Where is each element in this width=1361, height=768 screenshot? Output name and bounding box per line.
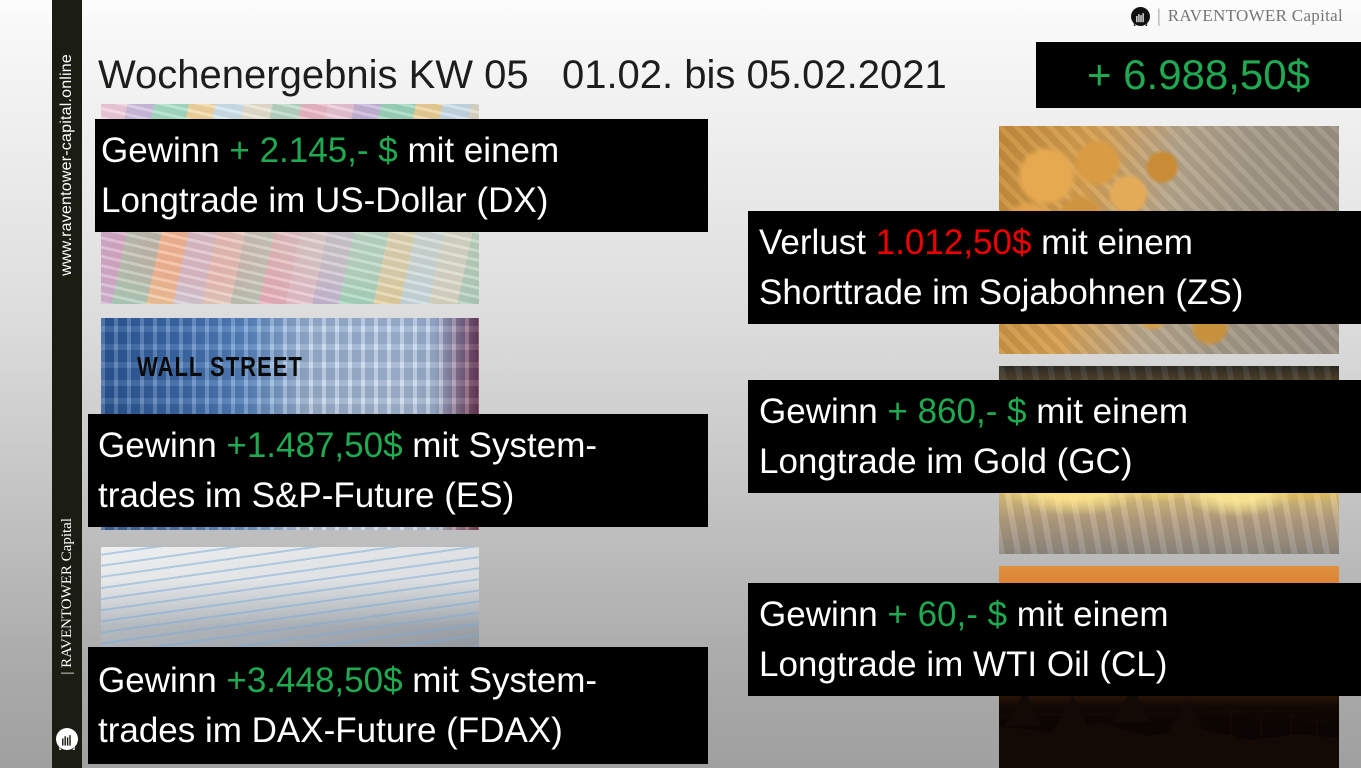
sidebar-website-url: www.raventower-capital.online <box>52 0 82 330</box>
page-title-text: Wochenergebnis KW 05 01.02. bis 05.02.20… <box>98 44 947 106</box>
caption-line-1: Gewinn + 860,- $ mit einem <box>759 387 1361 437</box>
trade-caption-gc: Gewinn + 860,- $ mit einem Longtrade im … <box>748 380 1361 493</box>
caption-line-1: Gewinn + 2.145,- $ mit einem <box>101 126 708 176</box>
page-title: Wochenergebnis KW 05 01.02. bis 05.02.20… <box>98 44 947 106</box>
caption-line-1: Verlust 1.012,50$ mit einem <box>759 218 1361 268</box>
trade-caption-dx: Gewinn + 2.145,- $ mit einem Longtrade i… <box>95 119 708 232</box>
trade-amount: + 60,- $ <box>887 595 1007 634</box>
caption-suffix: mit System- <box>403 661 597 700</box>
caption-line-2: trades im DAX-Future (FDAX) <box>98 706 708 756</box>
caption-suffix: mit einem <box>1007 595 1168 634</box>
trade-caption-es: Gewinn +1.487,50$ mit System- trades im … <box>88 414 708 527</box>
caption-line-2: Longtrade im Gold (GC) <box>759 437 1361 487</box>
brand-logo-header: | RAVENTOWER Capital <box>1131 6 1343 26</box>
trade-caption-fdax: Gewinn +3.448,50$ mit System- trades im … <box>88 647 708 764</box>
raventower-logo-icon <box>1131 7 1150 26</box>
trade-amount: + 2.145,- $ <box>229 131 397 170</box>
sidebar-url-text: www.raventower-capital.online <box>58 54 76 276</box>
raventower-logo-sidebar-icon <box>56 728 78 750</box>
caption-line-2: Shorttrade im Sojabohnen (ZS) <box>759 268 1361 318</box>
caption-prefix: Gewinn <box>759 392 887 431</box>
trade-caption-cl: Gewinn + 60,- $ mit einem Longtrade im W… <box>748 583 1361 696</box>
sidebar-brand-text: | RAVENTOWER Capital <box>59 518 76 675</box>
trade-amount: +1.487,50$ <box>226 426 402 465</box>
sidebar-brand-name: | RAVENTOWER Capital <box>52 486 82 706</box>
caption-line-1: Gewinn +3.448,50$ mit System- <box>98 656 708 706</box>
trade-amount: + 860,- $ <box>887 392 1026 431</box>
brand-separator: | <box>1157 7 1161 26</box>
caption-prefix: Gewinn <box>98 661 226 700</box>
caption-prefix: Gewinn <box>101 131 229 170</box>
brand-sidebar: www.raventower-capital.online | RAVENTOW… <box>52 0 82 768</box>
trade-caption-zs: Verlust 1.012,50$ mit einem Shorttrade i… <box>748 211 1361 324</box>
caption-line-2: Longtrade im US-Dollar (DX) <box>101 176 708 226</box>
caption-suffix: mit einem <box>398 131 559 170</box>
caption-prefix: Gewinn <box>759 595 887 634</box>
caption-line-2: trades im S&P-Future (ES) <box>98 471 708 521</box>
caption-prefix: Gewinn <box>98 426 226 465</box>
caption-suffix: mit einem <box>1031 223 1192 262</box>
trade-amount: +3.448,50$ <box>226 661 402 700</box>
caption-suffix: mit System- <box>403 426 597 465</box>
trade-amount: 1.012,50$ <box>876 223 1032 262</box>
wall-street-label: WALL STREET <box>137 351 303 384</box>
caption-prefix: Verlust <box>759 223 876 262</box>
slide-canvas: | RAVENTOWER Capital www.raventower-capi… <box>0 0 1361 768</box>
caption-line-2: Longtrade im WTI Oil (CL) <box>759 640 1361 690</box>
caption-line-1: Gewinn + 60,- $ mit einem <box>759 590 1361 640</box>
brand-name: RAVENTOWER Capital <box>1168 6 1343 26</box>
caption-suffix: mit einem <box>1027 392 1188 431</box>
weekly-total-badge: + 6.988,50$ <box>1036 42 1361 108</box>
caption-line-1: Gewinn +1.487,50$ mit System- <box>98 421 708 471</box>
